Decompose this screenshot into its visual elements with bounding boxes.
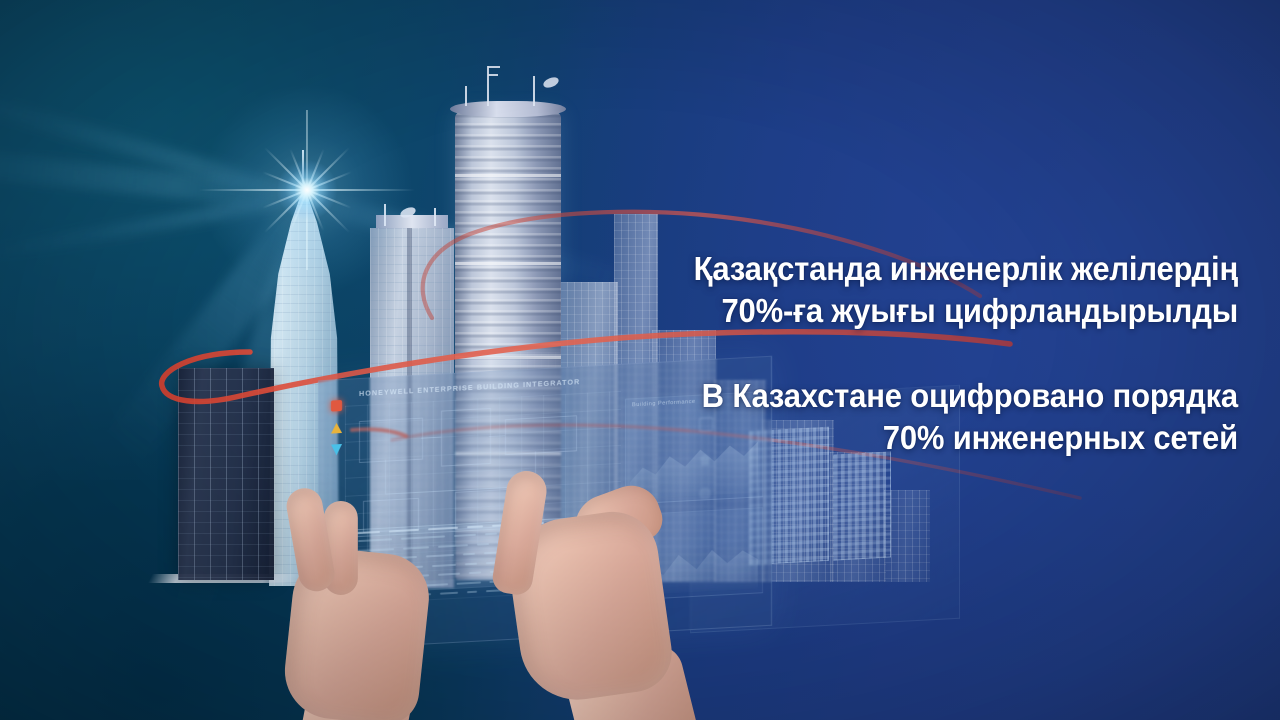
headline-kk-line1: Қазақстанда инженерлік желілердің [561,248,1238,290]
headline-kk-line2: 70%-ға жуығы цифрландырылды [561,290,1238,332]
headline-block: Қазақстанда инженерлік желілердің 70%-ға… [518,248,1238,459]
slide-canvas: HONEYWELL ENTERPRISE BUILDING INTEGRATOR… [0,0,1280,720]
headline-ru-line1: В Казахстане оцифровано порядка [561,375,1238,417]
headline-ru-line2: 70% инженерных сетей [561,417,1238,459]
